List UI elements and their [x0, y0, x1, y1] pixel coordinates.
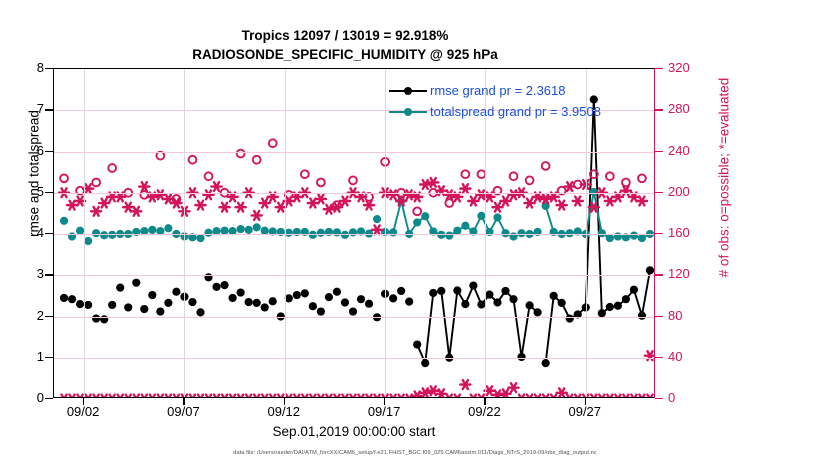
data-point	[316, 395, 326, 398]
data-point	[196, 234, 204, 242]
data-point	[638, 174, 646, 182]
y-tick-label-left: 7	[37, 102, 44, 115]
y-tick-right	[655, 151, 663, 152]
data-point	[542, 162, 550, 170]
data-point	[100, 231, 108, 239]
data-point	[108, 164, 116, 172]
data-point	[107, 395, 117, 398]
y-tick-label-left: 8	[37, 61, 44, 74]
data-point	[244, 395, 254, 398]
data-point	[372, 395, 382, 398]
data-point	[91, 395, 101, 398]
y-tick-label-left: 1	[37, 350, 44, 363]
data-point	[460, 380, 470, 389]
y-axis-label-right: # of obs: o=possible; *=evaluated	[717, 28, 732, 328]
data-point	[211, 395, 221, 398]
data-point	[60, 174, 68, 182]
y-tick-right	[655, 316, 663, 317]
data-point	[148, 291, 156, 299]
data-point	[565, 395, 575, 398]
data-point	[301, 289, 309, 297]
data-point	[372, 225, 382, 234]
data-point	[558, 299, 566, 307]
gridline-vertical	[84, 69, 85, 397]
data-point	[621, 186, 631, 195]
y-tick-right	[655, 233, 663, 234]
y-tick-right	[655, 274, 663, 275]
chart-legend: rmse grand pr = 2.3618totalspread grand …	[389, 80, 601, 122]
data-point	[388, 395, 398, 398]
y-tick-label-right: 160	[668, 226, 690, 239]
data-point	[389, 294, 397, 302]
data-point	[340, 395, 350, 398]
series-line	[417, 286, 537, 364]
data-point	[164, 299, 172, 307]
data-point	[268, 395, 278, 398]
series-obs-baseline	[59, 380, 655, 398]
data-point	[365, 300, 373, 308]
gridline-horizontal	[54, 317, 654, 318]
data-point	[645, 351, 655, 360]
data-point	[292, 395, 302, 398]
data-point	[116, 284, 124, 292]
data-point	[622, 295, 630, 303]
y-tick-label-right: 200	[668, 185, 690, 198]
data-point	[67, 395, 77, 398]
y-tick-label-right: 80	[668, 309, 682, 322]
data-point	[132, 279, 140, 287]
data-point	[163, 395, 173, 398]
x-tick-label: 09/27	[550, 404, 620, 419]
y-tick-label-left: 0	[37, 391, 44, 404]
data-point	[245, 226, 253, 234]
y-tick-left	[45, 398, 53, 399]
data-point	[115, 395, 125, 398]
data-point	[349, 228, 357, 236]
data-point	[413, 218, 421, 226]
y-tick-left	[45, 316, 53, 317]
data-point	[317, 307, 325, 315]
data-point	[99, 199, 109, 208]
data-point	[453, 286, 461, 294]
data-point	[469, 281, 477, 289]
data-point	[187, 395, 197, 398]
y-tick-label-left: 3	[37, 267, 44, 280]
gridline-horizontal	[54, 152, 654, 153]
data-point	[557, 201, 567, 210]
data-point	[108, 301, 116, 309]
y-tick-left	[45, 68, 53, 69]
data-point	[549, 395, 559, 398]
data-point	[332, 395, 342, 398]
data-point	[357, 295, 365, 303]
data-point	[196, 308, 204, 316]
data-point	[131, 395, 141, 398]
data-point	[92, 179, 100, 187]
data-point	[349, 176, 357, 184]
data-point	[550, 292, 558, 300]
y-tick-label-right: 240	[668, 144, 690, 157]
data-point	[189, 156, 197, 164]
data-point	[348, 395, 358, 398]
data-point	[606, 303, 614, 311]
data-point	[60, 217, 68, 225]
y-tick-right	[655, 398, 663, 399]
data-point	[516, 395, 526, 398]
data-point	[573, 395, 583, 398]
data-point	[468, 395, 478, 398]
data-point	[413, 340, 421, 348]
data-point	[396, 395, 406, 398]
data-point	[533, 395, 543, 398]
data-point	[341, 298, 349, 306]
data-point	[646, 266, 654, 274]
y-tick-right	[655, 68, 663, 69]
data-point	[373, 215, 381, 223]
data-point	[219, 395, 229, 398]
data-point	[573, 197, 583, 206]
y-tick-label-left: 2	[37, 309, 44, 322]
title-line-1: Tropics 12097 / 13019 = 92.918%	[0, 26, 690, 45]
data-point	[188, 298, 196, 306]
y-tick-label-right: 320	[668, 61, 690, 74]
data-point	[477, 300, 485, 308]
data-point	[526, 176, 534, 184]
data-point	[205, 172, 213, 180]
data-point	[237, 225, 245, 233]
data-point	[597, 395, 607, 398]
data-point	[293, 291, 301, 299]
data-point	[621, 395, 631, 398]
data-point	[285, 294, 293, 302]
data-point	[477, 212, 485, 220]
data-point	[405, 298, 413, 306]
data-point	[204, 229, 212, 237]
gridline-vertical	[184, 69, 185, 397]
data-point	[421, 212, 429, 220]
data-point	[349, 307, 357, 315]
data-point	[629, 395, 639, 398]
data-point	[172, 288, 180, 296]
x-tick-label: 09/02	[48, 404, 118, 419]
data-point	[501, 287, 509, 295]
data-point	[227, 395, 237, 398]
y-tick-label-right: 280	[668, 102, 690, 115]
gridline-horizontal	[54, 193, 654, 194]
gridline-horizontal	[54, 358, 654, 359]
data-point	[252, 395, 262, 398]
data-point	[637, 395, 647, 398]
data-point	[606, 172, 614, 180]
data-point	[309, 302, 317, 310]
data-point	[500, 389, 510, 398]
legend-label: totalspread grand pr = 3.9508	[430, 101, 601, 122]
data-point	[606, 234, 614, 242]
legend-item-1[interactable]: totalspread grand pr = 3.9508	[389, 101, 601, 122]
data-point	[468, 197, 478, 206]
y-tick-label-right: 120	[668, 267, 690, 280]
data-point	[437, 287, 445, 295]
data-point	[68, 295, 76, 303]
data-point	[630, 232, 638, 240]
data-point	[492, 203, 502, 212]
y-tick-left	[45, 233, 53, 234]
y-tick-label-left: 5	[37, 185, 44, 198]
data-point	[534, 308, 542, 316]
data-point	[140, 305, 148, 313]
data-point	[460, 184, 470, 193]
title-line-2: RADIOSONDE_SPECIFIC_HUMIDITY @ 925 hPa	[0, 45, 690, 64]
data-point	[589, 395, 599, 398]
data-point	[444, 395, 454, 398]
y-tick-left	[45, 192, 53, 193]
y-tick-right	[655, 109, 663, 110]
data-point	[508, 383, 518, 392]
data-point	[429, 289, 437, 297]
y-tick-label-left: 4	[37, 226, 44, 239]
data-point	[605, 395, 615, 398]
y-tick-right	[655, 357, 663, 358]
data-point	[195, 395, 205, 398]
data-point	[541, 395, 551, 398]
data-point	[301, 170, 309, 178]
x-tick-label: 09/17	[349, 404, 419, 419]
data-point	[260, 199, 270, 208]
data-point	[397, 287, 405, 295]
data-point	[268, 192, 278, 201]
data-point	[59, 395, 69, 398]
data-point	[285, 229, 293, 237]
data-point	[389, 228, 397, 236]
data-point	[252, 211, 262, 220]
gridline-horizontal	[54, 275, 654, 276]
data-point	[237, 288, 245, 296]
data-point	[333, 228, 341, 236]
data-point	[525, 301, 533, 309]
data-point	[220, 281, 228, 289]
data-point	[317, 229, 325, 237]
data-point	[524, 199, 534, 208]
data-point	[493, 298, 501, 306]
data-point	[245, 298, 253, 306]
y-tick-left	[45, 274, 53, 275]
data-point	[91, 207, 101, 216]
data-point	[542, 359, 550, 367]
data-point	[638, 234, 646, 242]
data-point	[261, 303, 269, 311]
data-point	[364, 395, 374, 398]
data-point	[76, 300, 84, 308]
y-tick-label-right: 40	[668, 350, 682, 363]
legend-item-0[interactable]: rmse grand pr = 2.3618	[389, 80, 601, 101]
data-point	[421, 359, 429, 367]
data-point	[493, 213, 501, 221]
data-point	[203, 190, 213, 199]
data-point	[123, 395, 133, 398]
data-point	[645, 395, 655, 398]
data-point	[356, 395, 366, 398]
data-point	[325, 293, 333, 301]
data-point	[630, 286, 638, 294]
y-tick-left	[45, 357, 53, 358]
data-point	[219, 203, 229, 212]
data-point	[461, 222, 469, 230]
data-point	[485, 291, 493, 299]
y-tick-label-left: 6	[37, 144, 44, 157]
data-point	[236, 395, 246, 398]
data-point	[260, 395, 270, 398]
data-point	[269, 139, 277, 147]
data-point	[364, 201, 374, 210]
data-point	[613, 395, 623, 398]
data-point	[253, 156, 261, 164]
x-tick-label: 09/12	[249, 404, 319, 419]
data-point	[413, 207, 421, 215]
data-point	[155, 395, 165, 398]
y-tick-left	[45, 151, 53, 152]
data-point	[452, 395, 462, 398]
data-point	[524, 395, 534, 398]
legend-label: rmse grand pr = 2.3618	[430, 80, 566, 101]
data-point	[333, 288, 341, 296]
data-point	[60, 294, 68, 302]
data-point	[124, 303, 132, 311]
legend-marker-icon	[389, 106, 427, 118]
data-point	[461, 170, 469, 178]
y-tick-right	[655, 192, 663, 193]
data-file-caption: data file: /Users/raeder/DAI/ATM_forcXX/…	[0, 450, 830, 456]
y-tick-left	[45, 109, 53, 110]
data-point	[212, 283, 220, 291]
gridline-vertical	[385, 69, 386, 397]
data-point	[308, 395, 318, 398]
data-point	[195, 201, 205, 210]
data-point	[164, 224, 172, 232]
data-point	[203, 395, 213, 398]
data-point	[99, 395, 109, 398]
x-tick-label: 09/22	[449, 404, 519, 419]
data-point	[461, 300, 469, 308]
data-point	[509, 295, 517, 303]
data-point	[171, 395, 181, 398]
x-axis-label: Sep.01,2019 00:00:00 start	[53, 424, 655, 439]
y-tick-label-right: 0	[668, 391, 675, 404]
data-point	[147, 395, 157, 398]
data-point	[478, 170, 486, 178]
series-obs-evaluated	[59, 178, 655, 360]
data-point	[510, 172, 518, 180]
chart-title: Tropics 12097 / 13019 = 92.918% RADIOSON…	[0, 26, 690, 64]
data-point	[269, 297, 277, 305]
data-point	[300, 395, 310, 398]
gridline-vertical	[285, 69, 286, 397]
data-point	[253, 223, 261, 231]
data-point	[500, 197, 510, 206]
data-point	[211, 182, 221, 191]
legend-marker-icon	[389, 85, 427, 97]
data-point	[156, 307, 164, 315]
data-point	[84, 237, 92, 245]
data-point	[445, 232, 453, 240]
x-tick-label: 09/07	[148, 404, 218, 419]
data-point	[139, 395, 149, 398]
data-point	[84, 301, 92, 309]
data-point	[317, 179, 325, 187]
gridline-horizontal	[54, 234, 654, 235]
data-point	[557, 388, 567, 397]
data-point	[253, 299, 261, 307]
data-point	[324, 395, 334, 398]
data-point	[139, 182, 149, 191]
chart-figure: Tropics 12097 / 13019 = 92.918% RADIOSON…	[0, 0, 830, 470]
data-point	[148, 226, 156, 234]
data-point	[614, 302, 622, 310]
data-point	[156, 152, 164, 160]
data-point	[236, 203, 246, 212]
data-point	[228, 294, 236, 302]
y-axis-label-left: rmse and totalspread	[27, 44, 42, 304]
